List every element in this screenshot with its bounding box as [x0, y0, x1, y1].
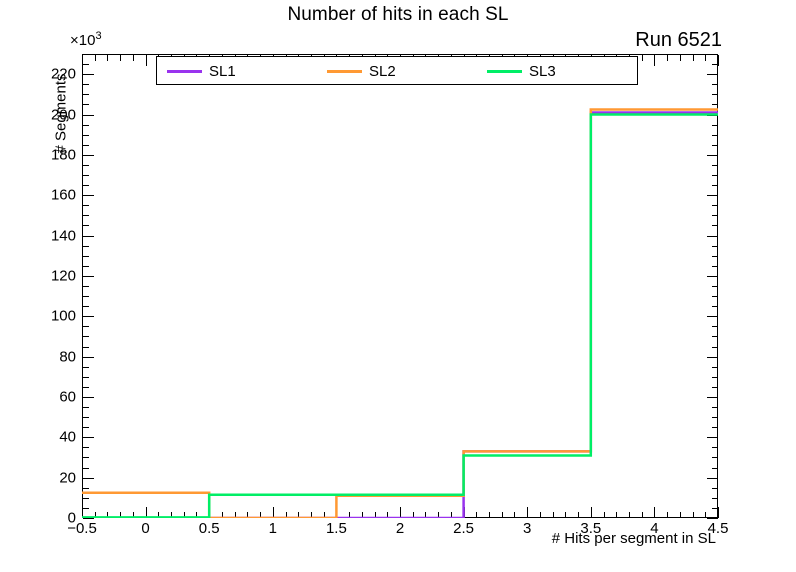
y-tick-label: 140: [32, 227, 76, 244]
chart-title: Number of hits in each SL: [0, 4, 796, 26]
y-axis-exponent: ×103: [70, 30, 102, 49]
legend-entry-sl3[interactable]: SL3: [487, 57, 556, 86]
x-tick-label: 1.5: [306, 520, 366, 537]
histogram-plot-area: [82, 54, 718, 518]
legend-label: SL1: [209, 64, 236, 79]
legend-entry-sl1[interactable]: SL1: [167, 57, 236, 86]
y-tick-label: 220: [32, 66, 76, 83]
y-tick-label: 80: [32, 348, 76, 365]
y-tick-label: 60: [32, 388, 76, 405]
tick-mark: [707, 518, 718, 519]
tick-mark: [718, 507, 719, 518]
x-tick-label: 3: [497, 520, 557, 537]
series-line-sl1: [82, 113, 718, 519]
series-line-sl2: [82, 109, 718, 518]
y-tick-label: 40: [32, 429, 76, 446]
legend-swatch-sl3-icon: [487, 70, 522, 73]
x-tick-label: 4.5: [688, 520, 748, 537]
legend-label: SL3: [529, 64, 556, 79]
x-tick-label: −0.5: [52, 520, 112, 537]
legend-swatch-sl2-icon: [327, 70, 362, 73]
y-tick-label: 160: [32, 187, 76, 204]
y-tick-label: 180: [32, 146, 76, 163]
x-tick-label: 1: [243, 520, 303, 537]
x-tick-label: 2.5: [434, 520, 494, 537]
x-tick-label: 2: [370, 520, 430, 537]
legend-entry-sl2[interactable]: SL2: [327, 57, 396, 86]
x-tick-label: 0.5: [179, 520, 239, 537]
y-tick-label: 200: [32, 106, 76, 123]
chart-canvas: Number of hits in each SL Run 6521 ×103 …: [0, 0, 796, 572]
y-tick-label: 120: [32, 267, 76, 284]
x-tick-label: 3.5: [561, 520, 621, 537]
run-number-annotation: Run 6521: [635, 29, 722, 52]
legend-label: SL2: [369, 64, 396, 79]
series-line-sl3: [82, 115, 718, 518]
tick-mark: [83, 518, 94, 519]
x-tick-label: 4: [624, 520, 684, 537]
tick-mark: [718, 55, 719, 66]
y-tick-label: 20: [32, 469, 76, 486]
y-tick-label: 100: [32, 308, 76, 325]
legend-swatch-sl1-icon: [167, 70, 202, 73]
x-tick-label: 0: [116, 520, 176, 537]
legend: SL1SL2SL3: [156, 56, 638, 85]
